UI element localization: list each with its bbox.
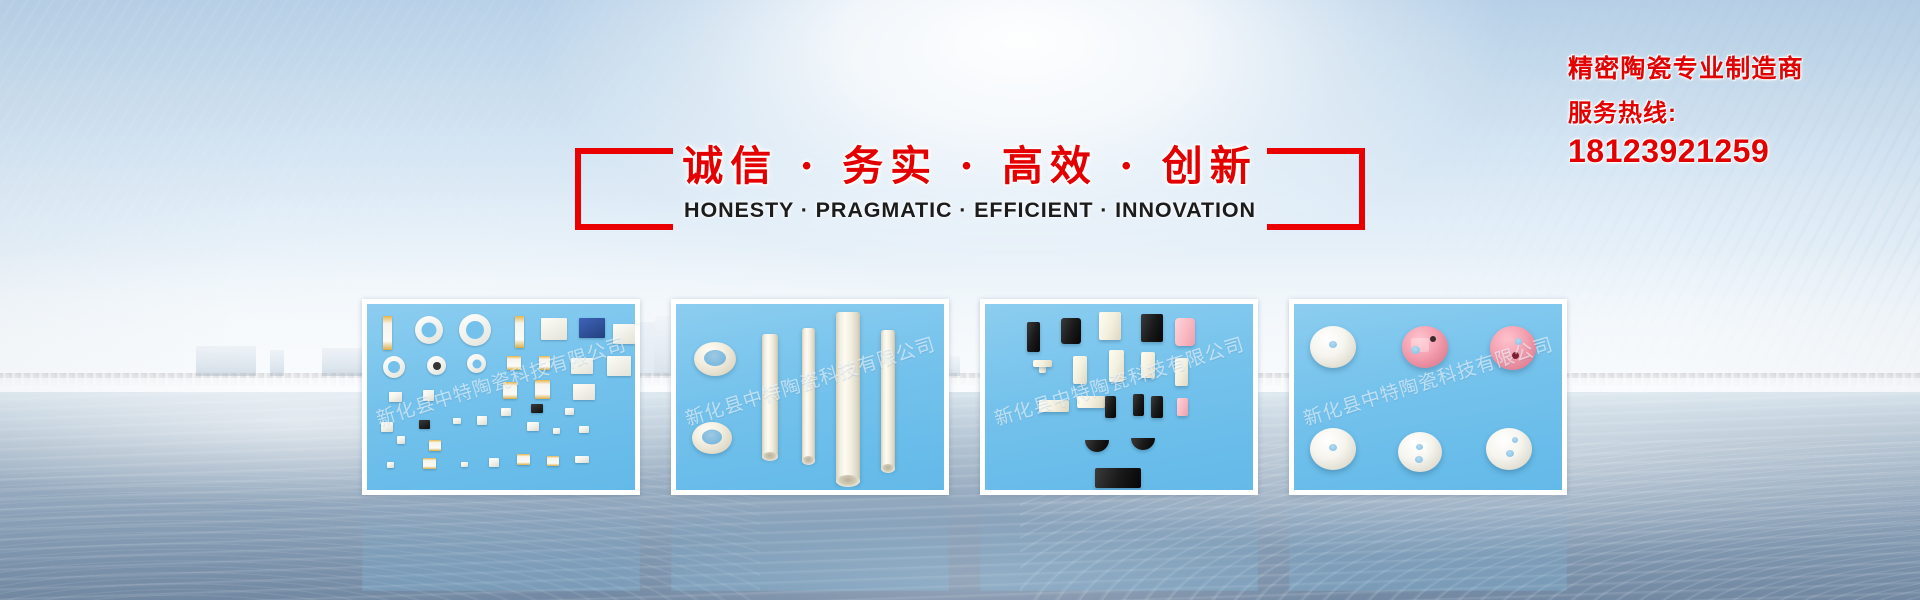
company-tagline: 精密陶瓷专业制造商 <box>1568 52 1908 86</box>
hero-banner: 诚信 · 务实 · 高效 · 创新 HONESTY · PRAGMATIC · … <box>0 0 1920 600</box>
product-panel-1[interactable]: 新化县中特陶瓷科技有限公司 <box>362 299 640 495</box>
panel-4-reflection <box>1289 495 1567 591</box>
product-panel-row: 新化县中特陶瓷科技有限公司 新化县中特陶瓷科技有限公司 <box>362 299 1582 495</box>
panel-3-reflection <box>980 495 1258 591</box>
slogan-english: HONESTY · PRAGMATIC · EFFICIENT · INNOVA… <box>575 198 1365 223</box>
headline-block: 诚信 · 务实 · 高效 · 创新 HONESTY · PRAGMATIC · … <box>575 140 1365 245</box>
contact-block: 精密陶瓷专业制造商 服务热线: 18123921259 <box>1568 52 1908 171</box>
product-panel-2[interactable]: 新化县中特陶瓷科技有限公司 <box>671 299 949 495</box>
product-panel-3[interactable]: 新化县中特陶瓷科技有限公司 <box>980 299 1258 495</box>
panel-1-reflection <box>362 495 640 591</box>
panel-4-image: 新化县中特陶瓷科技有限公司 <box>1294 304 1562 490</box>
slogan-chinese: 诚信 · 务实 · 高效 · 创新 <box>575 136 1365 196</box>
hotline-label: 服务热线: <box>1568 99 1908 129</box>
panel-3-image: 新化县中特陶瓷科技有限公司 <box>985 304 1253 490</box>
panel-watermark: 新化县中特陶瓷科技有限公司 <box>367 324 635 438</box>
panel-2-reflection <box>671 495 949 591</box>
product-panel-4[interactable]: 新化县中特陶瓷科技有限公司 <box>1289 299 1567 495</box>
panel-1-image: 新化县中特陶瓷科技有限公司 <box>367 304 635 490</box>
hotline-number[interactable]: 18123921259 <box>1568 131 1908 171</box>
building <box>196 346 256 376</box>
panel-2-image: 新化县中特陶瓷科技有限公司 <box>676 304 944 490</box>
